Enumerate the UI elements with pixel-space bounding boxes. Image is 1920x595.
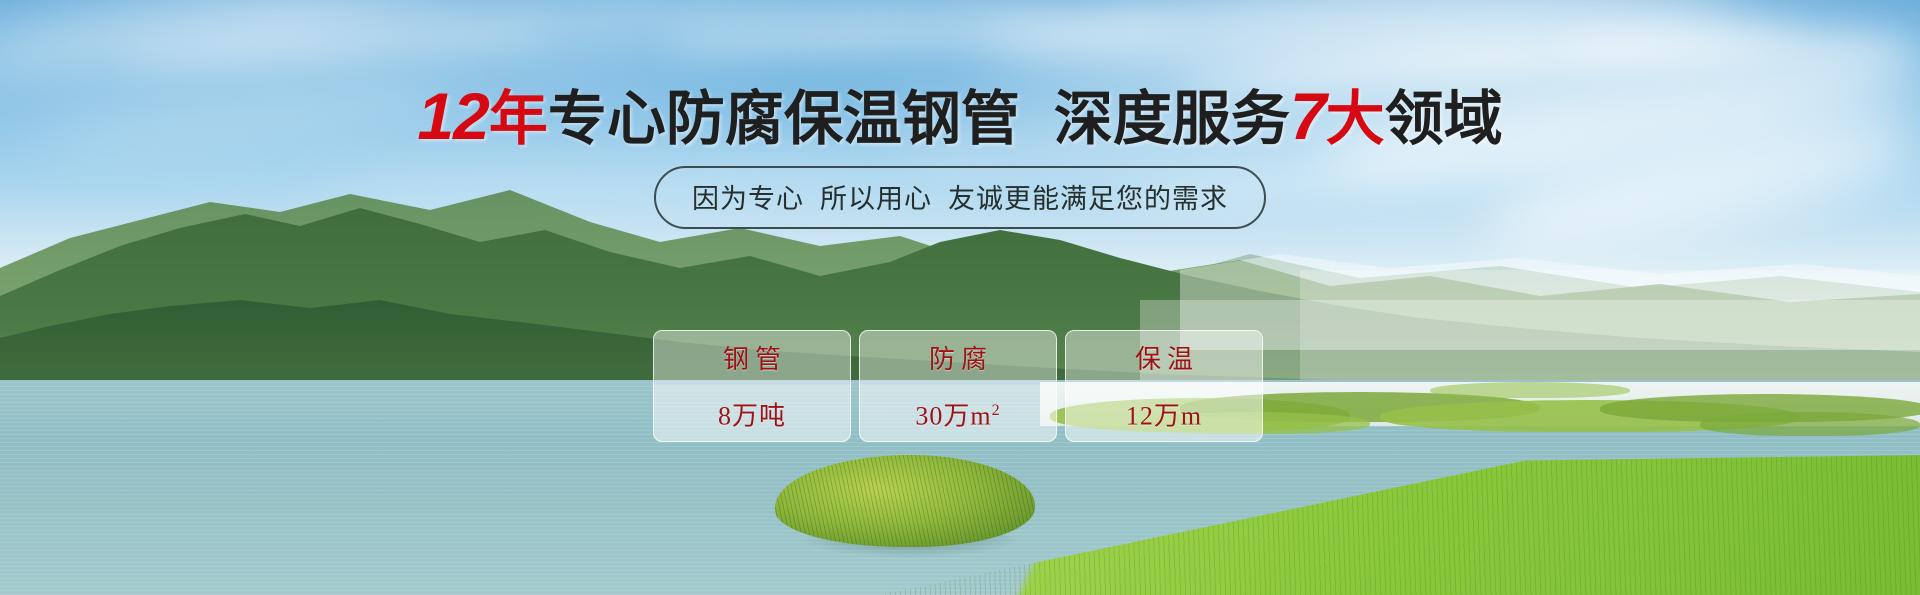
stat-card-label: 钢管 bbox=[717, 335, 787, 383]
headline-years-number: 12 bbox=[417, 79, 488, 153]
subtitle-pill: 因为专心所以用心友诚更能满足您的需求 bbox=[654, 166, 1266, 229]
headline-service-text: 深度服务 bbox=[1054, 86, 1290, 152]
stat-card-value: 12万m bbox=[1126, 385, 1202, 437]
headline: 12年专心防腐保温钢管深度服务7大领域 bbox=[0, 83, 1920, 149]
stat-card-label: 防腐 bbox=[923, 335, 993, 383]
stat-card: 钢管 8万吨 bbox=[653, 330, 851, 442]
cloud-icon bbox=[1560, 30, 1920, 70]
stat-card-value-sup: 2 bbox=[992, 402, 1001, 419]
reed-bank bbox=[1430, 382, 1630, 398]
stat-card-value: 8万吨 bbox=[718, 385, 786, 437]
headline-fields-unit: 大 bbox=[1326, 86, 1385, 152]
stat-card-value-text: 8万吨 bbox=[718, 402, 786, 431]
stat-card-label: 保温 bbox=[1129, 335, 1199, 383]
stat-cards: 钢管 8万吨 防腐 30万m2 保温 12万m bbox=[653, 330, 1263, 442]
subtitle-part-3: 友诚更能满足您的需求 bbox=[948, 184, 1228, 214]
headline-fields-text: 领域 bbox=[1385, 86, 1503, 152]
headline-years-unit: 年 bbox=[489, 86, 548, 152]
subtitle-part-2: 所以用心 bbox=[820, 184, 932, 214]
stat-card: 保温 12万m bbox=[1065, 330, 1263, 442]
headline-fields-number: 7 bbox=[1290, 79, 1326, 153]
stat-card-value-text: 12万m bbox=[1126, 402, 1202, 431]
headline-main-text: 专心防腐保温钢管 bbox=[548, 86, 1020, 152]
stat-card: 防腐 30万m2 bbox=[859, 330, 1057, 442]
promo-banner: 12年专心防腐保温钢管深度服务7大领域 因为专心所以用心友诚更能满足您的需求 钢… bbox=[0, 0, 1920, 595]
stat-card-value-text: 30万m bbox=[915, 402, 991, 431]
reed-bank bbox=[1700, 412, 1920, 436]
stat-card-value: 30万m2 bbox=[915, 385, 1000, 437]
subtitle-part-1: 因为专心 bbox=[692, 184, 804, 214]
